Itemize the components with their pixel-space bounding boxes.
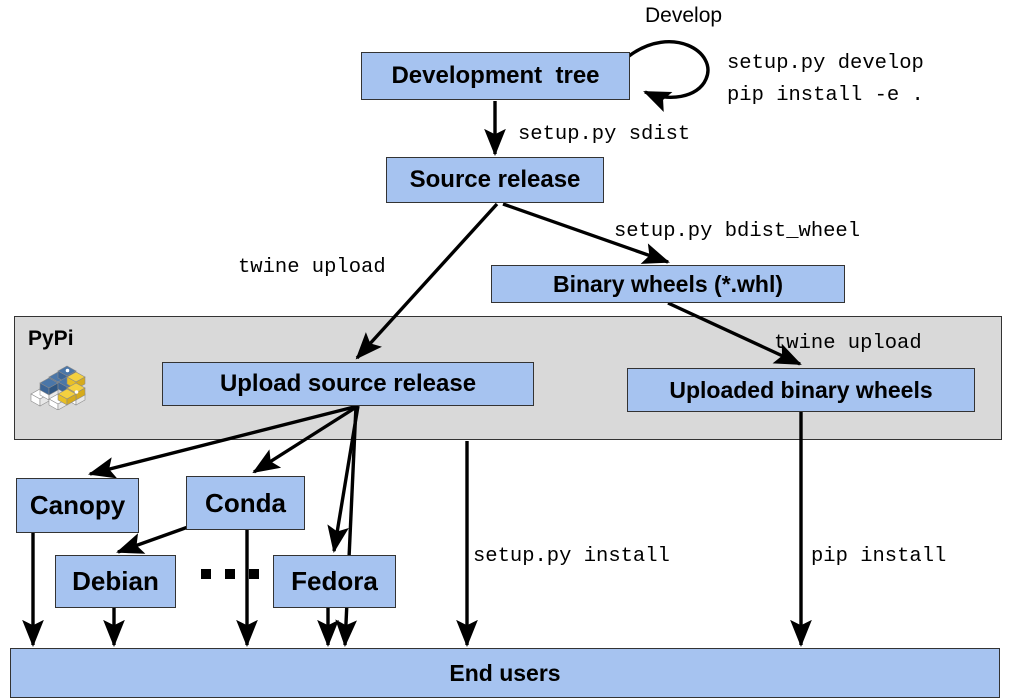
edge-label-twine-upload-src: twine upload [238,256,386,279]
edge-label-pip-install-e: pip install -e . [727,84,924,107]
ellipsis-dot [225,569,235,579]
packaging-flow-diagram: PyPi [0,0,1009,698]
node-source-release[interactable]: Source release [386,157,604,203]
node-canopy[interactable]: Canopy [16,478,139,533]
pypi-logo-icon [28,358,86,415]
node-development-tree[interactable]: Development tree [361,52,630,100]
edge-label-develop: Develop [645,4,722,28]
more-distros-ellipsis [201,569,259,579]
node-upload-source-release[interactable]: Upload source release [162,362,534,406]
node-fedora[interactable]: Fedora [273,555,396,608]
ellipsis-dot [249,569,259,579]
edge-develop-self-loop [629,42,708,98]
edge-label-setup-py-bdist: setup.py bdist_wheel [614,220,860,243]
edge-label-setup-py-develop: setup.py develop [727,52,924,75]
ellipsis-dot [201,569,211,579]
node-conda[interactable]: Conda [186,476,305,530]
node-binary-wheels[interactable]: Binary wheels (*.whl) [491,265,845,303]
edge-upload-source-to-end-users-mid [345,406,356,645]
node-end-users[interactable]: End users [10,648,1000,698]
pypi-region-label: PyPi [28,327,74,351]
edge-label-setup-py-install: setup.py install [473,545,670,568]
node-debian[interactable]: Debian [55,555,176,608]
edge-label-setup-py-sdist: setup.py sdist [518,123,690,146]
node-uploaded-binary-wheels[interactable]: Uploaded binary wheels [627,368,975,412]
edge-label-pip-install: pip install [811,545,946,568]
edge-label-twine-upload-whl: twine upload [774,332,922,355]
